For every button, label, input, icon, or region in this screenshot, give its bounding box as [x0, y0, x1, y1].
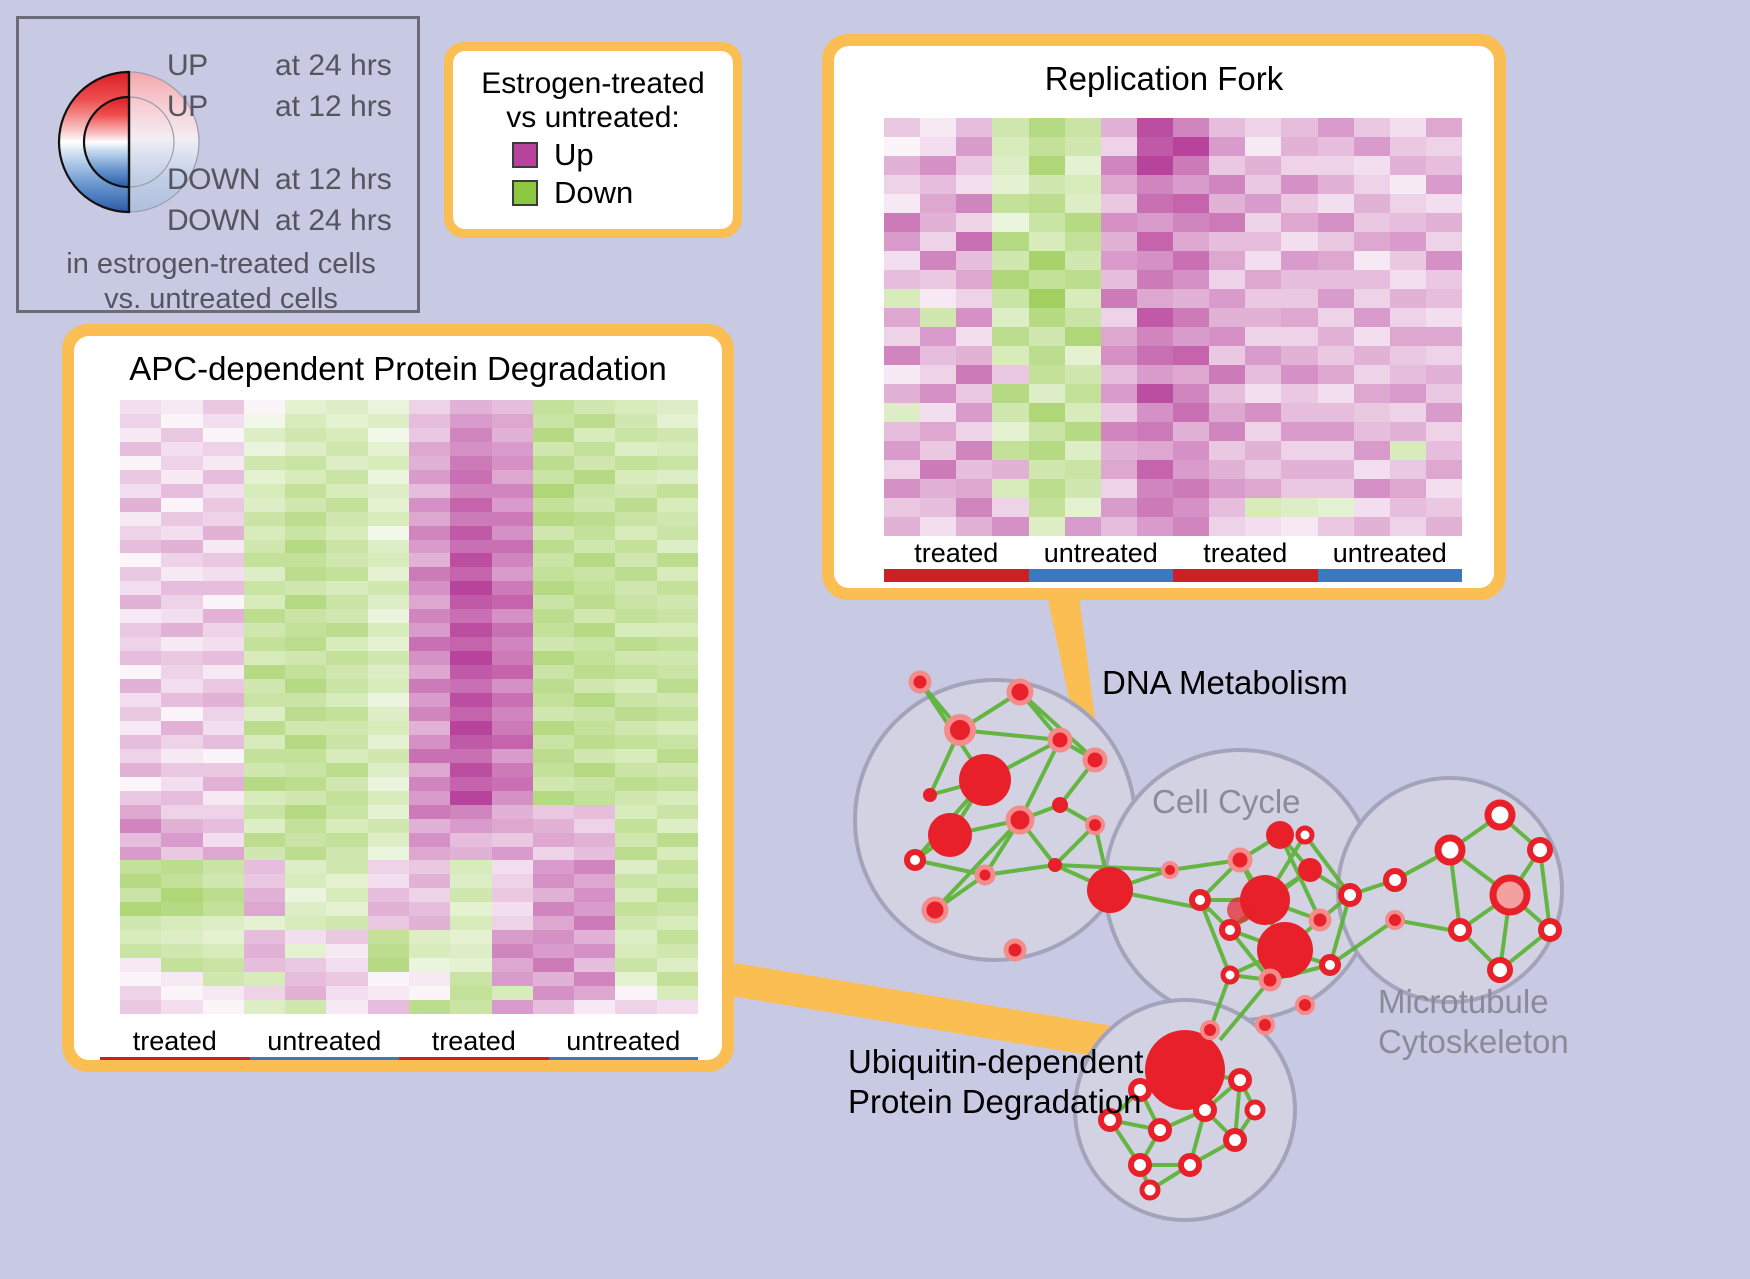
heatmap-cell [1281, 384, 1317, 403]
heatmap-cell [409, 470, 450, 484]
heatmap-cell [884, 194, 920, 213]
heatmap-cell [1245, 175, 1281, 194]
heatmap-cell [326, 428, 367, 442]
heatmap-cell [1065, 213, 1101, 232]
heatmap-cell [368, 888, 409, 902]
heatmap-cell [1318, 384, 1354, 403]
heatmap-cell [244, 553, 285, 567]
heatmap-cell [1065, 517, 1101, 536]
heatmap-cell [450, 819, 491, 833]
heatmap-cell [285, 874, 326, 888]
network-node [1050, 730, 1070, 750]
heatmap-cell [161, 512, 202, 526]
heatmap-cell [1354, 270, 1390, 289]
heatmap-cell [884, 327, 920, 346]
network-node [1223, 968, 1237, 982]
heatmap-cell [244, 958, 285, 972]
heatmap-cell [920, 384, 956, 403]
heatmap-cell [615, 986, 656, 1000]
key-state: UP [167, 90, 275, 124]
heatmap-cell [1065, 289, 1101, 308]
heatmap-cell [533, 749, 574, 763]
heatmap-cell [326, 581, 367, 595]
heatmap-cell [615, 819, 656, 833]
sample-group-labels: treated untreated treated untreated [884, 538, 1462, 569]
heatmap-cell [203, 665, 244, 679]
heatmap-cell [574, 526, 615, 540]
heatmap-cell [161, 888, 202, 902]
heatmap-cell [884, 156, 920, 175]
heatmap-cell [492, 553, 533, 567]
heatmap-cell [1281, 137, 1317, 156]
heatmap-cell [161, 847, 202, 861]
heatmap-cell [1173, 137, 1209, 156]
key-time: at 12 hrs [275, 90, 392, 124]
heatmap-cell [657, 512, 698, 526]
heatmap-cell [1318, 517, 1354, 536]
network-node [1009, 681, 1031, 703]
heatmap-cell [244, 400, 285, 414]
heatmap-cell [574, 721, 615, 735]
heatmap-cell [203, 442, 244, 456]
heatmap-cell [203, 428, 244, 442]
heatmap-cell [1173, 517, 1209, 536]
heatmap-cell [450, 526, 491, 540]
up-color-swatch [512, 142, 538, 168]
heatmap-cell [533, 637, 574, 651]
heatmap-cell [1137, 289, 1173, 308]
heatmap-cell [120, 958, 161, 972]
heatmap-cell [161, 623, 202, 637]
heatmap-cell [1318, 232, 1354, 251]
network-node [1488, 803, 1512, 827]
heatmap-cell [368, 860, 409, 874]
heatmap-cell [1065, 346, 1101, 365]
heatmap-cell [492, 567, 533, 581]
heatmap-cell [368, 833, 409, 847]
heatmap-cell [326, 791, 367, 805]
heatmap-cell [1318, 422, 1354, 441]
network-node [1087, 867, 1133, 913]
key-caption-line2: vs. untreated cells [19, 282, 423, 317]
treatment-color-bar [100, 1057, 698, 1060]
heatmap-cell [244, 665, 285, 679]
heatmap-cell [244, 651, 285, 665]
heatmap-cell [120, 749, 161, 763]
heatmap-cell [657, 749, 698, 763]
heatmap-cell [368, 847, 409, 861]
heatmap-cell [574, 749, 615, 763]
heatmap-cell [161, 819, 202, 833]
heatmap-cell [956, 194, 992, 213]
heatmap-cell [492, 512, 533, 526]
heatmap-cell [203, 540, 244, 554]
heatmap-cell [615, 749, 656, 763]
heatmap-cell [326, 763, 367, 777]
heatmap-cell [120, 637, 161, 651]
heatmap-cell [956, 517, 992, 536]
heatmap-cell [1281, 517, 1317, 536]
pathway-network-diagram [810, 620, 1750, 1279]
heatmap-cell [326, 693, 367, 707]
heatmap-cell [1065, 270, 1101, 289]
heatmap-cell [657, 707, 698, 721]
heatmap-cell [1281, 365, 1317, 384]
heatmap-cell [326, 735, 367, 749]
heatmap-cell [657, 609, 698, 623]
heatmap-cell [992, 308, 1028, 327]
heatmap-cell [574, 944, 615, 958]
heatmap-cell [368, 735, 409, 749]
heatmap-cell [161, 916, 202, 930]
heatmap-cell [1065, 156, 1101, 175]
heatmap-cell [203, 651, 244, 665]
heatmap-cell [368, 749, 409, 763]
heatmap-cell [1029, 251, 1065, 270]
heatmap-cell [1137, 365, 1173, 384]
heatmap-cell [492, 609, 533, 623]
heatmap-cell [1390, 137, 1426, 156]
sample-label: treated [399, 1026, 549, 1057]
heatmap-cell [450, 553, 491, 567]
heatmap-cell [615, 581, 656, 595]
heatmap-cell [657, 581, 698, 595]
heatmap-cell [533, 763, 574, 777]
heatmap-cell [244, 428, 285, 442]
heatmap-cell [161, 581, 202, 595]
heatmap-cell [1354, 403, 1390, 422]
heatmap-cell [992, 251, 1028, 270]
heatmap-cell [244, 470, 285, 484]
heatmap-cell [1209, 232, 1245, 251]
heatmap-cell [956, 441, 992, 460]
heatmap-cell [409, 847, 450, 861]
heatmap-cell [1137, 384, 1173, 403]
heatmap-cell [574, 958, 615, 972]
heatmap-cell [409, 1000, 450, 1014]
heatmap-cell [368, 567, 409, 581]
heatmap-cell [615, 874, 656, 888]
heatmap-cell [533, 679, 574, 693]
heatmap-cell [368, 456, 409, 470]
heatmap-cell [368, 679, 409, 693]
heatmap-cell [1173, 498, 1209, 517]
heatmap-cell [1137, 498, 1173, 517]
heatmap-cell [1281, 422, 1317, 441]
heatmap-cell [1426, 175, 1462, 194]
heatmap-cell [956, 156, 992, 175]
heatmap-cell [120, 651, 161, 665]
heatmap-cell [492, 623, 533, 637]
heatmap-cell [285, 693, 326, 707]
heatmap-cell [1426, 441, 1462, 460]
heatmap-cell [244, 512, 285, 526]
heatmap-cell [450, 944, 491, 958]
heatmap-cell [161, 609, 202, 623]
heatmap-cell [120, 944, 161, 958]
heatmap-cell [409, 679, 450, 693]
heatmap-cell [409, 791, 450, 805]
heatmap-cell [492, 470, 533, 484]
heatmap-cell [409, 735, 450, 749]
heatmap-cell [1318, 156, 1354, 175]
heatmap-cell [615, 735, 656, 749]
heatmap-cell [615, 944, 656, 958]
heatmap-cell [492, 944, 533, 958]
heatmap-cell [409, 874, 450, 888]
heatmap-cell [956, 479, 992, 498]
heatmap-cell [1245, 422, 1281, 441]
bar-untreated-24 [1318, 569, 1463, 582]
heatmap-cell [1426, 118, 1462, 137]
heatmap-cell [120, 442, 161, 456]
network-node [1438, 838, 1462, 862]
heatmap-cell [657, 1000, 698, 1014]
heatmap-cell [285, 567, 326, 581]
heatmap-cell [326, 609, 367, 623]
heatmap-cell [326, 721, 367, 735]
heatmap-cell [992, 498, 1028, 517]
heatmap-cell [492, 414, 533, 428]
network-node [1226, 1131, 1244, 1149]
heatmap-cell [884, 365, 920, 384]
heatmap-cell [1101, 289, 1137, 308]
heatmap-cell [615, 930, 656, 944]
heatmap-cell [120, 721, 161, 735]
heatmap-cell [120, 581, 161, 595]
heatmap-cell [1426, 213, 1462, 232]
heatmap-cell [409, 805, 450, 819]
heatmap-cell [1101, 175, 1137, 194]
heatmap-cell [533, 860, 574, 874]
heatmap-cell [1318, 479, 1354, 498]
heatmap-cell [161, 930, 202, 944]
heatmap-cell [1426, 384, 1462, 403]
heatmap-cell [326, 916, 367, 930]
heatmap-cell [1065, 441, 1101, 460]
heatmap-cell [120, 972, 161, 986]
heatmap-cell [492, 986, 533, 1000]
heatmap-cell [533, 693, 574, 707]
heatmap-cell [450, 805, 491, 819]
heatmap-cell [492, 693, 533, 707]
heatmap-cell [203, 553, 244, 567]
heatmap-cell [244, 623, 285, 637]
heatmap-cell [920, 498, 956, 517]
heatmap-cell [1245, 346, 1281, 365]
heatmap-cell [285, 819, 326, 833]
heatmap-cell [1173, 327, 1209, 346]
heatmap-cell [884, 346, 920, 365]
heatmap-cell [1354, 346, 1390, 365]
heatmap-cell [368, 777, 409, 791]
heatmap-cell [120, 456, 161, 470]
heatmap-cell [244, 456, 285, 470]
heatmap-cell [409, 860, 450, 874]
heatmap-cell [326, 400, 367, 414]
heatmap-cell [1245, 137, 1281, 156]
heatmap-cell [1137, 251, 1173, 270]
heatmap-cell [368, 609, 409, 623]
heatmap-cell [492, 581, 533, 595]
heatmap-cell [285, 847, 326, 861]
heatmap-cell [574, 567, 615, 581]
heatmap-cell [285, 414, 326, 428]
heatmap-cell [533, 456, 574, 470]
heatmap-cell [615, 651, 656, 665]
heatmap-cell [450, 428, 491, 442]
heatmap-cell [533, 972, 574, 986]
heatmap-cell [884, 498, 920, 517]
heatmap-cell [1101, 479, 1137, 498]
heatmap-cell [574, 693, 615, 707]
heatmap-cell [450, 567, 491, 581]
heatmap-cell [203, 930, 244, 944]
heatmap-cell [920, 213, 956, 232]
heatmap-cell [1426, 422, 1462, 441]
heatmap-cell [368, 930, 409, 944]
heatmap-cell [244, 526, 285, 540]
heatmap-cell [657, 595, 698, 609]
heatmap-cell [326, 707, 367, 721]
heatmap-cell [450, 972, 491, 986]
heatmap-cell [615, 791, 656, 805]
heatmap-cell [1101, 517, 1137, 536]
heatmap-cell [120, 414, 161, 428]
network-node [1145, 1030, 1225, 1110]
heatmap-cell [450, 735, 491, 749]
heatmap-cell [884, 422, 920, 441]
heatmap-cell [615, 860, 656, 874]
heatmap-cell [615, 763, 656, 777]
heatmap-cell [368, 916, 409, 930]
heatmap-cell [244, 847, 285, 861]
heatmap-cell [203, 735, 244, 749]
heatmap-cell [1209, 308, 1245, 327]
legend-title-line1: Estrogen-treated [461, 67, 725, 101]
heatmap-cell [368, 721, 409, 735]
heatmap-cell [285, 581, 326, 595]
heatmap-cell [450, 623, 491, 637]
heatmap-cell [992, 346, 1028, 365]
heatmap-cell [450, 665, 491, 679]
heatmap-cell [368, 414, 409, 428]
heatmap-cell [1390, 498, 1426, 517]
heatmap-cell [492, 707, 533, 721]
heatmap-cell [1281, 289, 1317, 308]
heatmap-cell [203, 581, 244, 595]
heatmap-cell [1173, 232, 1209, 251]
heatmap-cell [1137, 137, 1173, 156]
bar-untreated-24 [549, 1057, 699, 1060]
heatmap-cell [285, 888, 326, 902]
heatmap-cell [244, 930, 285, 944]
heatmap-cell [1065, 308, 1101, 327]
heatmap-cell [657, 400, 698, 414]
heatmap-cell [244, 763, 285, 777]
heatmap-cell [409, 721, 450, 735]
heatmap-cell [285, 512, 326, 526]
heatmap-cell [574, 902, 615, 916]
heatmap-cell [574, 819, 615, 833]
heatmap-cell [574, 428, 615, 442]
heatmap-cell [1173, 384, 1209, 403]
heatmap-cell [1065, 327, 1101, 346]
heatmap-cell [161, 553, 202, 567]
cluster-label-line1: Microtubule [1378, 982, 1569, 1022]
heatmap-cell [992, 479, 1028, 498]
heatmap-cell [1137, 441, 1173, 460]
heatmap-cell [574, 665, 615, 679]
heatmap-cell [1354, 384, 1390, 403]
heatmap-cell [450, 930, 491, 944]
heatmap-cell [203, 860, 244, 874]
heatmap-cell [1173, 346, 1209, 365]
heatmap-cell [203, 819, 244, 833]
heatmap-cell [533, 540, 574, 554]
heatmap-cell [368, 763, 409, 777]
network-node [1341, 886, 1359, 904]
heatmap-cell [1209, 156, 1245, 175]
heatmap-cell [1065, 384, 1101, 403]
heatmap-cell [574, 874, 615, 888]
figure-canvas: UP at 24 hrs UP at 12 hrs DOWN at 12 hrs… [0, 0, 1750, 1279]
heatmap-cell [326, 944, 367, 958]
network-node [947, 717, 973, 743]
heatmap-cell [1390, 308, 1426, 327]
heatmap-cell [533, 791, 574, 805]
heatmap-cell [1354, 232, 1390, 251]
heatmap-cell [1281, 232, 1317, 251]
key-row-down-24: DOWN at 24 hrs [167, 204, 407, 245]
heatmap-cell [956, 289, 992, 308]
heatmap-cell [1065, 118, 1101, 137]
network-node [1493, 878, 1527, 912]
heatmap-cell [409, 833, 450, 847]
heatmap-cell [533, 833, 574, 847]
heatmap-cell [368, 540, 409, 554]
heatmap-cell [1029, 308, 1065, 327]
heatmap-cell [533, 553, 574, 567]
heatmap-cell [1318, 175, 1354, 194]
heatmap-cell [1390, 156, 1426, 175]
heatmap-cell [574, 679, 615, 693]
heatmap-cell [1209, 365, 1245, 384]
heatmap-cell [956, 118, 992, 137]
heatmap-cell [657, 847, 698, 861]
heatmap-cell [409, 637, 450, 651]
heatmap-cell [120, 930, 161, 944]
heatmap-cell [1209, 346, 1245, 365]
heatmap-cell [992, 270, 1028, 289]
heatmap-cell [368, 874, 409, 888]
bar-untreated-12 [1029, 569, 1174, 582]
heatmap-cell [450, 888, 491, 902]
heatmap-cell [450, 581, 491, 595]
heatmap-cell [120, 623, 161, 637]
heatmap-cell [615, 637, 656, 651]
heatmap-cell [368, 484, 409, 498]
heatmap-cell [1318, 270, 1354, 289]
heatmap-cell [244, 637, 285, 651]
heatmap-cell [161, 958, 202, 972]
up-down-legend-inner: Estrogen-treated vs untreated: Up Down [453, 51, 733, 229]
heatmap-cell [120, 609, 161, 623]
heatmap-cell [1065, 403, 1101, 422]
heatmap-cell [1318, 365, 1354, 384]
down-label: Down [554, 175, 674, 211]
heatmap-cell [1209, 175, 1245, 194]
